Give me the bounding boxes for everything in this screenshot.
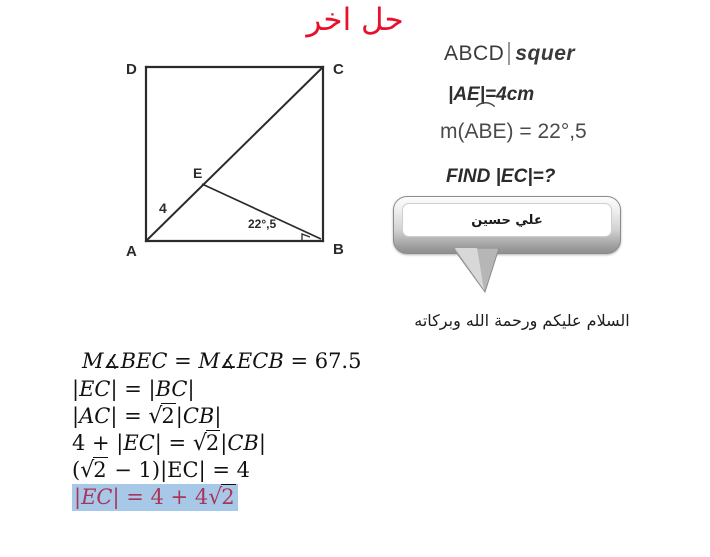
math-token: CB: [227, 431, 259, 455]
math-token: |: [259, 431, 266, 455]
math-token: | = 4 + 4: [112, 485, 208, 509]
math-token: CB: [183, 404, 215, 428]
angle-symbol-icon: ∡: [104, 351, 121, 373]
math-token: EC: [79, 377, 110, 401]
given-shape-name: ABCD: [444, 42, 504, 65]
math-row: |AC| = √2|CB|: [72, 403, 412, 430]
math-token: EC: [123, 431, 154, 455]
angle-symbol-icon: ∡: [220, 351, 237, 373]
math-token: 4 + |: [72, 431, 123, 455]
math-token: | =: [155, 431, 193, 455]
math-token: | = |: [110, 377, 155, 401]
math-row: |EC| = |BC|: [72, 376, 412, 403]
diagonal-ac: [146, 67, 323, 241]
math-line-line-5: (√2 − 1)|EC| = 4: [72, 457, 412, 484]
given-shape-line: ABCDsquer: [444, 42, 575, 66]
math-line-line-3: |AC| = √2|CB|: [72, 403, 412, 430]
math-token: |: [176, 404, 183, 428]
vertex-label-c: C: [333, 61, 344, 78]
vertex-label-d: D: [126, 61, 137, 78]
math-token: | =: [110, 404, 148, 428]
geometry-figure: D C A B E 4 22°,5: [112, 44, 372, 274]
math-token: AC: [79, 404, 110, 428]
angle-arc-icon: ⌒: [476, 109, 496, 117]
sqrt-icon: √: [193, 431, 207, 456]
given-find-line: FIND |EC|=?: [446, 166, 555, 188]
sqrt-radicand: 2: [93, 457, 107, 482]
math-row: |EC| = 4 + 4√2: [72, 484, 412, 511]
math-line-line-4: 4 + |EC| = √2|CB|: [72, 430, 412, 457]
sqrt-group: √2: [208, 485, 235, 509]
math-token: BEC: [121, 349, 168, 373]
angle-value-label: 22°,5: [248, 217, 276, 231]
math-token: |: [187, 377, 194, 401]
sqrt-radicand: 2: [161, 403, 175, 428]
sqrt-group: √2: [80, 458, 107, 482]
point-label-e: E: [193, 165, 202, 181]
math-line-line-1: M∡BEC = M∡ECB = 67.5: [72, 348, 412, 376]
segment-length-label: 4: [159, 200, 167, 216]
math-token: EC: [81, 485, 112, 509]
given-angle-prefix: m(: [440, 120, 465, 143]
arabic-greeting: السلام عليكم ورحمة الله وبركاته: [382, 311, 662, 330]
math-token: = 67.5: [284, 349, 362, 373]
math-row: (√2 − 1)|EC| = 4: [72, 457, 412, 484]
given-shape-kind: squer: [508, 42, 575, 65]
math-token: |: [214, 404, 221, 428]
sqrt-group: √2: [148, 404, 175, 428]
solution-block: M∡BEC = M∡ECB = 67.5|EC| = |BC||AC| = √2…: [72, 348, 412, 511]
speech-bubble-inner: علي حسين: [402, 203, 612, 237]
vertex-label-a: A: [126, 243, 137, 260]
angle-arc-group: ⌒ABE: [465, 120, 507, 144]
math-line-line-2: |EC| = |BC|: [72, 376, 412, 403]
speech-bubble-tail: [453, 248, 523, 296]
math-token: M: [82, 349, 104, 373]
math-token: ECB: [237, 349, 284, 373]
math-token: − 1)|EC| = 4: [108, 458, 250, 482]
page-title: حل اخر: [0, 2, 710, 38]
speech-bubble-text: علي حسين: [471, 213, 542, 228]
given-angle-line: m(⌒ABE) = 22°,5: [440, 120, 587, 144]
math-token: (: [72, 458, 80, 482]
math-token: =: [167, 349, 198, 373]
math-row: 4 + |EC| = √2|CB|: [72, 430, 412, 457]
math-line-line-6: |EC| = 4 + 4√2: [72, 484, 238, 511]
given-angle-suffix: ): [507, 120, 514, 143]
math-token: M: [198, 349, 220, 373]
sqrt-radicand: 2: [221, 484, 235, 509]
sqrt-group: √2: [193, 431, 220, 455]
given-angle-equals: = 22°,5: [514, 120, 587, 143]
math-token: BC: [156, 377, 188, 401]
vertex-label-b: B: [333, 241, 344, 258]
speech-bubble: علي حسين: [393, 196, 621, 254]
sqrt-radicand: 2: [206, 430, 220, 455]
geometry-figure-svg: D C A B E 4 22°,5: [112, 44, 372, 274]
math-row: M∡BEC = M∡ECB = 67.5: [72, 348, 412, 376]
